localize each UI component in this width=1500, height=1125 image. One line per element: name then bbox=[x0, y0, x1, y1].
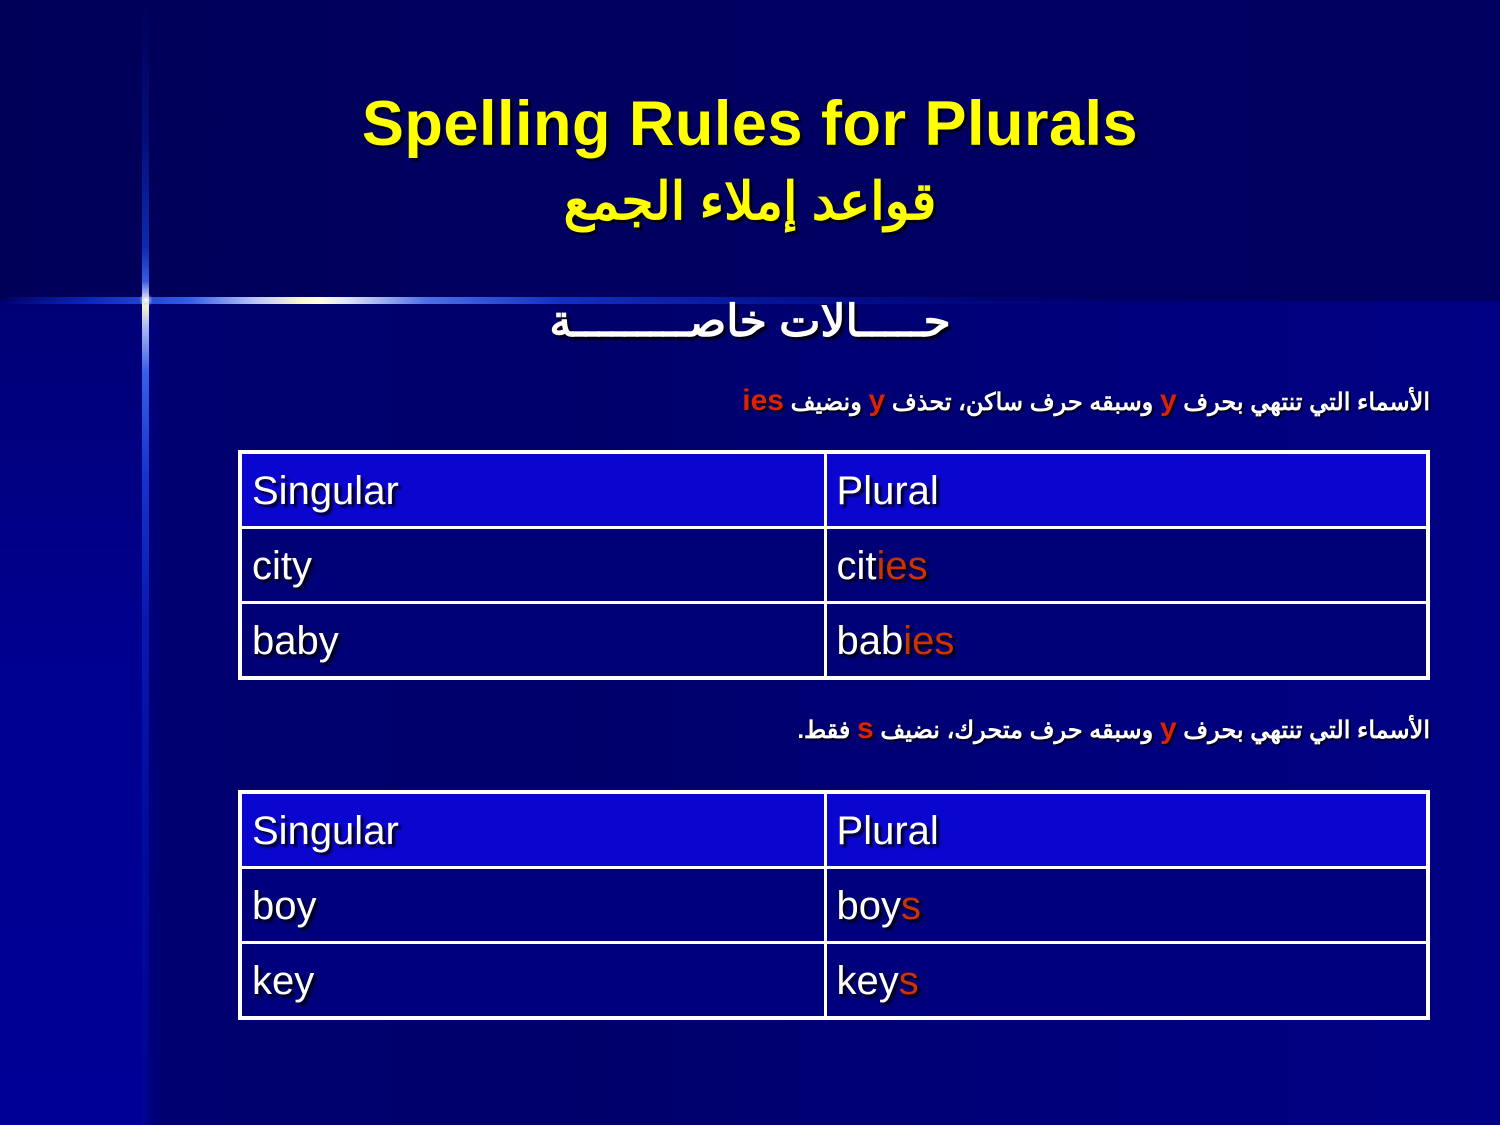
column-header-singular: Singular bbox=[242, 794, 824, 866]
table-row: city cities bbox=[242, 529, 1426, 601]
column-header-plural: Plural bbox=[827, 794, 1426, 866]
rule1-part2: وسبقه حرف ساكن، تحذف bbox=[892, 389, 1153, 416]
cell-plural: keys bbox=[827, 944, 1426, 1016]
rule-text-ies: الأسماء التي تنتهي بحرف y وسبقه حرف ساكن… bbox=[70, 384, 1430, 418]
cell-singular: boy bbox=[242, 869, 824, 941]
rule-text-s: الأسماء التي تنتهي بحرف y وسبقه حرف متحر… bbox=[70, 712, 1430, 746]
plural-suffix: ies bbox=[903, 619, 954, 664]
cell-plural: babies bbox=[827, 604, 1426, 676]
table-row: key keys bbox=[242, 944, 1426, 1016]
rule2-part3: فقط. bbox=[797, 717, 850, 744]
column-header-singular: Singular bbox=[242, 454, 824, 526]
table-s: Singular Plural boy boys key keys bbox=[238, 790, 1430, 1020]
page-title: Spelling Rules for Plurals bbox=[0, 88, 1500, 160]
rule2-part1: الأسماء التي تنتهي بحرف bbox=[1183, 717, 1430, 744]
cell-singular: key bbox=[242, 944, 824, 1016]
cell-plural: cities bbox=[827, 529, 1426, 601]
rule1-letter-y-a: y bbox=[1160, 384, 1177, 417]
rule1-part3: ونضيف bbox=[791, 389, 862, 416]
plural-stem: boy bbox=[837, 884, 902, 929]
presentation-slide: Spelling Rules for Plurals قواعد إملاء ا… bbox=[0, 0, 1500, 1125]
rule2-letter-s: s bbox=[857, 712, 874, 745]
cell-plural: boys bbox=[827, 869, 1426, 941]
column-header-plural: Plural bbox=[827, 454, 1426, 526]
rule1-letter-y-b: y bbox=[868, 384, 885, 417]
rule1-letter-ies: ies bbox=[742, 384, 784, 417]
table-header-row: Singular Plural bbox=[242, 794, 1426, 866]
cell-singular: city bbox=[242, 529, 824, 601]
cell-singular: baby bbox=[242, 604, 824, 676]
page-subtitle-arabic: قواعد إملاء الجمع bbox=[0, 172, 1500, 232]
table-ies: Singular Plural city cities baby babies bbox=[238, 450, 1430, 680]
table-row: boy boys bbox=[242, 869, 1426, 941]
decorative-vertical-beam bbox=[142, 0, 149, 1125]
rule2-letter-y: y bbox=[1160, 712, 1177, 745]
plural-stem: cit bbox=[837, 544, 877, 589]
rule1-part1: الأسماء التي تنتهي بحرف bbox=[1183, 389, 1430, 416]
plural-suffix: s bbox=[901, 884, 921, 929]
plural-suffix: s bbox=[899, 959, 919, 1004]
table-header-row: Singular Plural bbox=[242, 454, 1426, 526]
section-heading: حـــــالات خاصـــــــــة bbox=[0, 296, 1500, 347]
plural-stem: key bbox=[837, 959, 899, 1004]
rule2-part2: وسبقه حرف متحرك، نضيف bbox=[880, 717, 1153, 744]
table-row: baby babies bbox=[242, 604, 1426, 676]
plural-suffix: ies bbox=[877, 544, 928, 589]
plural-stem: bab bbox=[837, 619, 904, 664]
